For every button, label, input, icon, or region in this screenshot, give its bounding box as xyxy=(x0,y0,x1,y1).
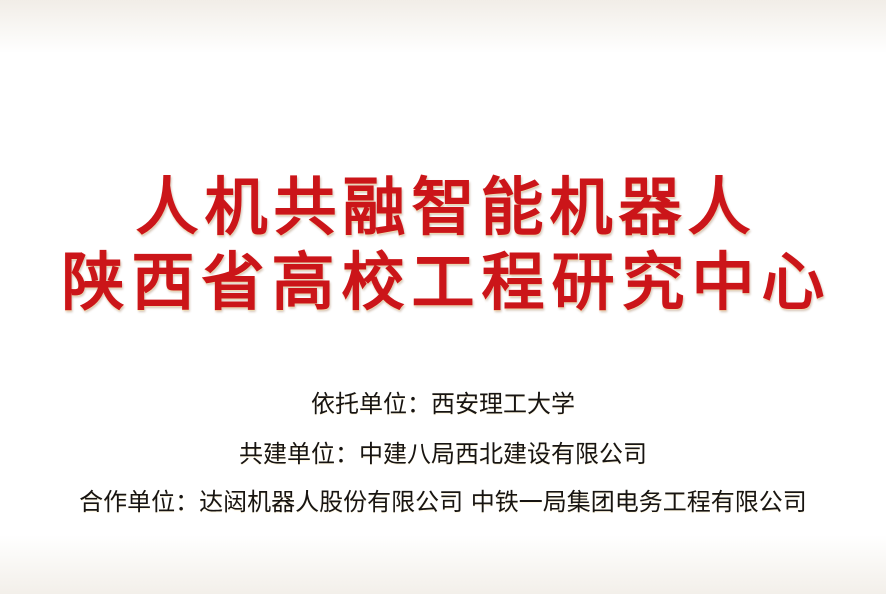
subtitle-line-host-institution: 依托单位：西安理工大学 xyxy=(0,392,886,416)
plaque-subtitles: 依托单位：西安理工大学 共建单位：中建八局西北建设有限公司 合作单位：达闼机器人… xyxy=(0,392,886,514)
plaque-title: 人机共融智能机器人 陕西省高校工程研究中心 xyxy=(0,176,886,314)
gold-plaque: 人机共融智能机器人 陕西省高校工程研究中心 依托单位：西安理工大学 共建单位：中… xyxy=(0,0,886,594)
subtitle-line-co-building-unit: 共建单位：中建八局西北建设有限公司 xyxy=(0,442,886,466)
plaque-content: 人机共融智能机器人 陕西省高校工程研究中心 依托单位：西安理工大学 共建单位：中… xyxy=(0,0,886,594)
title-line-2: 陕西省高校工程研究中心 xyxy=(0,251,886,314)
subtitle-line-partner-units: 合作单位：达闼机器人股份有限公司 中铁一局集团电务工程有限公司 xyxy=(0,490,886,514)
title-line-1: 人机共融智能机器人 xyxy=(0,176,886,239)
